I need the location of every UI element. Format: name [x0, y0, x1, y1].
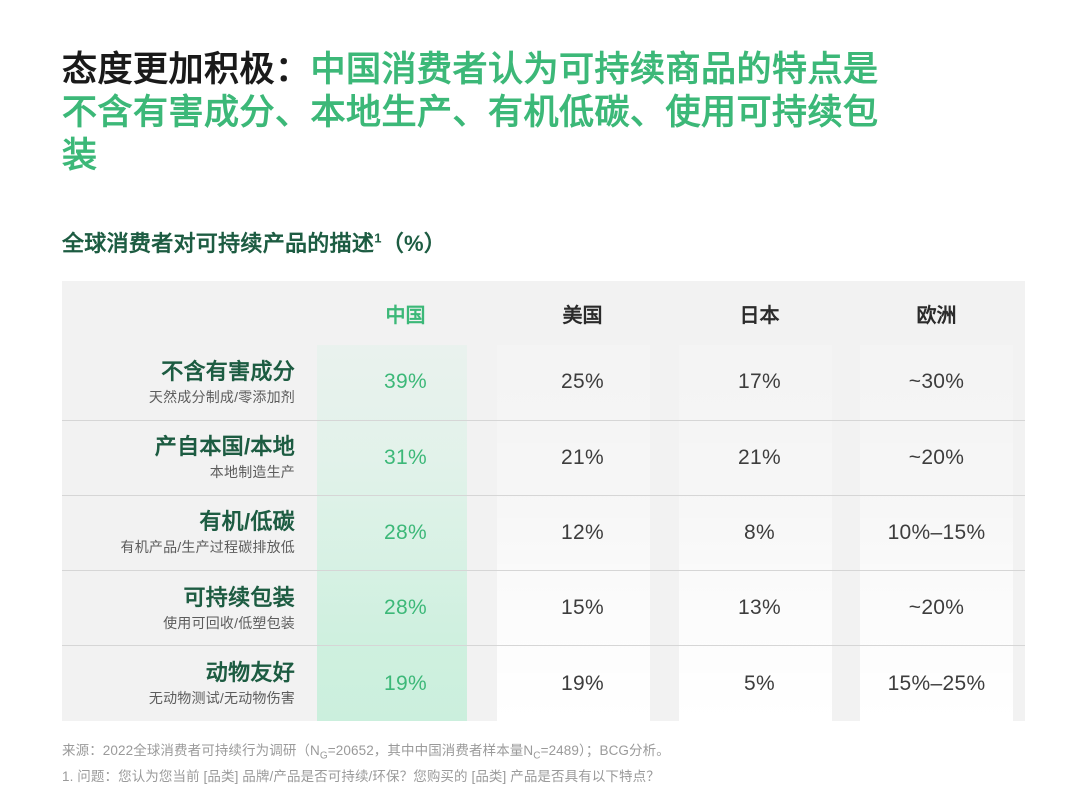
cell-china: 19% — [317, 646, 494, 721]
row-sublabel: 使用可回收/低塑包装 — [62, 613, 295, 633]
source-sub-g: G — [320, 751, 328, 762]
cell-europe: 10%–15% — [848, 495, 1025, 570]
cell-japan: 8% — [671, 495, 848, 570]
page-title: 态度更加积极：中国消费者认为可持续商品的特点是 不含有害成分、本地生产、有机低碳… — [62, 48, 1012, 177]
subtitle-unit: （%） — [382, 231, 446, 256]
data-table-card: 中国 美国 日本 欧洲 不含有害成分 天然成分制成/零添加剂 39% 25% 1… — [62, 281, 1025, 721]
title-highlight-3: 装 — [62, 136, 98, 175]
cell-china: 31% — [317, 420, 494, 495]
table-body: 不含有害成分 天然成分制成/零添加剂 39% 25% 17% ~30% 产自本国… — [62, 345, 1025, 721]
table-row: 可持续包装 使用可回收/低塑包装 28% 15% 13% ~20% — [62, 571, 1025, 646]
row-label-cell: 可持续包装 使用可回收/低塑包装 — [62, 571, 317, 646]
cell-us: 12% — [494, 495, 671, 570]
column-header-us: 美国 — [494, 281, 671, 345]
cell-japan: 17% — [671, 345, 848, 420]
title-line-3: 装 — [62, 134, 1012, 177]
cell-us: 25% — [494, 345, 671, 420]
row-title: 产自本国/本地 — [62, 433, 295, 460]
cell-europe: ~20% — [848, 571, 1025, 646]
column-header-label — [62, 281, 317, 345]
cell-europe: ~30% — [848, 345, 1025, 420]
cell-us: 15% — [494, 571, 671, 646]
title-prefix: 态度更加积极： — [62, 50, 311, 89]
column-header-japan: 日本 — [671, 281, 848, 345]
cell-europe: ~20% — [848, 420, 1025, 495]
subtitle-text: 全球消费者对可持续产品的描述 — [62, 231, 374, 256]
table-header-row: 中国 美国 日本 欧洲 — [62, 281, 1025, 345]
footnote-1: 1. 问题：您认为您当前 [品类] 品牌/产品是否可持续/环保？您购买的 [品类… — [62, 767, 1022, 787]
row-title: 可持续包装 — [62, 584, 295, 611]
row-title: 有机/低碳 — [62, 508, 295, 535]
table-row: 动物友好 无动物测试/无动物伤害 19% 19% 5% 15%–25% — [62, 646, 1025, 721]
row-sublabel: 无动物测试/无动物伤害 — [62, 688, 295, 708]
cell-china: 28% — [317, 495, 494, 570]
row-title: 不含有害成分 — [62, 358, 295, 385]
sustainability-attributes-table: 中国 美国 日本 欧洲 不含有害成分 天然成分制成/零添加剂 39% 25% 1… — [62, 281, 1025, 721]
source-sub-c: C — [533, 751, 540, 762]
table-row: 有机/低碳 有机产品/生产过程碳排放低 28% 12% 8% 10%–15% — [62, 495, 1025, 570]
table-row: 产自本国/本地 本地制造生产 31% 21% 21% ~20% — [62, 420, 1025, 495]
table-header: 中国 美国 日本 欧洲 — [62, 281, 1025, 345]
cell-us: 21% — [494, 420, 671, 495]
source-line: 来源：2022全球消费者可持续行为调研（NG=20652，其中中国消费者样本量N… — [62, 741, 1022, 767]
cell-japan: 21% — [671, 420, 848, 495]
source-prefix: 来源：2022全球消费者可持续行为调研（N — [62, 743, 320, 758]
column-header-europe: 欧洲 — [848, 281, 1025, 345]
title-line-1: 态度更加积极：中国消费者认为可持续商品的特点是 — [62, 48, 1012, 91]
row-label-cell: 有机/低碳 有机产品/生产过程碳排放低 — [62, 495, 317, 570]
row-sublabel: 有机产品/生产过程碳排放低 — [62, 537, 295, 557]
source-suffix: =2489）；BCG分析。 — [541, 743, 670, 758]
title-line-2: 不含有害成分、本地生产、有机低碳、使用可持续包 — [62, 91, 1012, 134]
footnotes: 来源：2022全球消费者可持续行为调研（NG=20652，其中中国消费者样本量N… — [62, 741, 1022, 787]
title-highlight-1: 中国消费者认为可持续商品的特点是 — [311, 50, 879, 89]
cell-japan: 5% — [671, 646, 848, 721]
cell-china: 39% — [317, 345, 494, 420]
column-header-china: 中国 — [317, 281, 494, 345]
row-title: 动物友好 — [62, 659, 295, 686]
source-mid: =20652，其中中国消费者样本量N — [328, 743, 533, 758]
cell-japan: 13% — [671, 571, 848, 646]
cell-europe: 15%–25% — [848, 646, 1025, 721]
cell-china: 28% — [317, 571, 494, 646]
cell-us: 19% — [494, 646, 671, 721]
row-label-cell: 动物友好 无动物测试/无动物伤害 — [62, 646, 317, 721]
row-sublabel: 本地制造生产 — [62, 462, 295, 482]
subtitle-footnote-marker: 1 — [374, 231, 382, 246]
chart-subtitle: 全球消费者对可持续产品的描述1（%） — [62, 226, 446, 258]
row-sublabel: 天然成分制成/零添加剂 — [62, 387, 295, 407]
table-row: 不含有害成分 天然成分制成/零添加剂 39% 25% 17% ~30% — [62, 345, 1025, 420]
title-highlight-2: 不含有害成分、本地生产、有机低碳、使用可持续包 — [62, 93, 879, 132]
row-label-cell: 产自本国/本地 本地制造生产 — [62, 420, 317, 495]
row-label-cell: 不含有害成分 天然成分制成/零添加剂 — [62, 345, 317, 420]
